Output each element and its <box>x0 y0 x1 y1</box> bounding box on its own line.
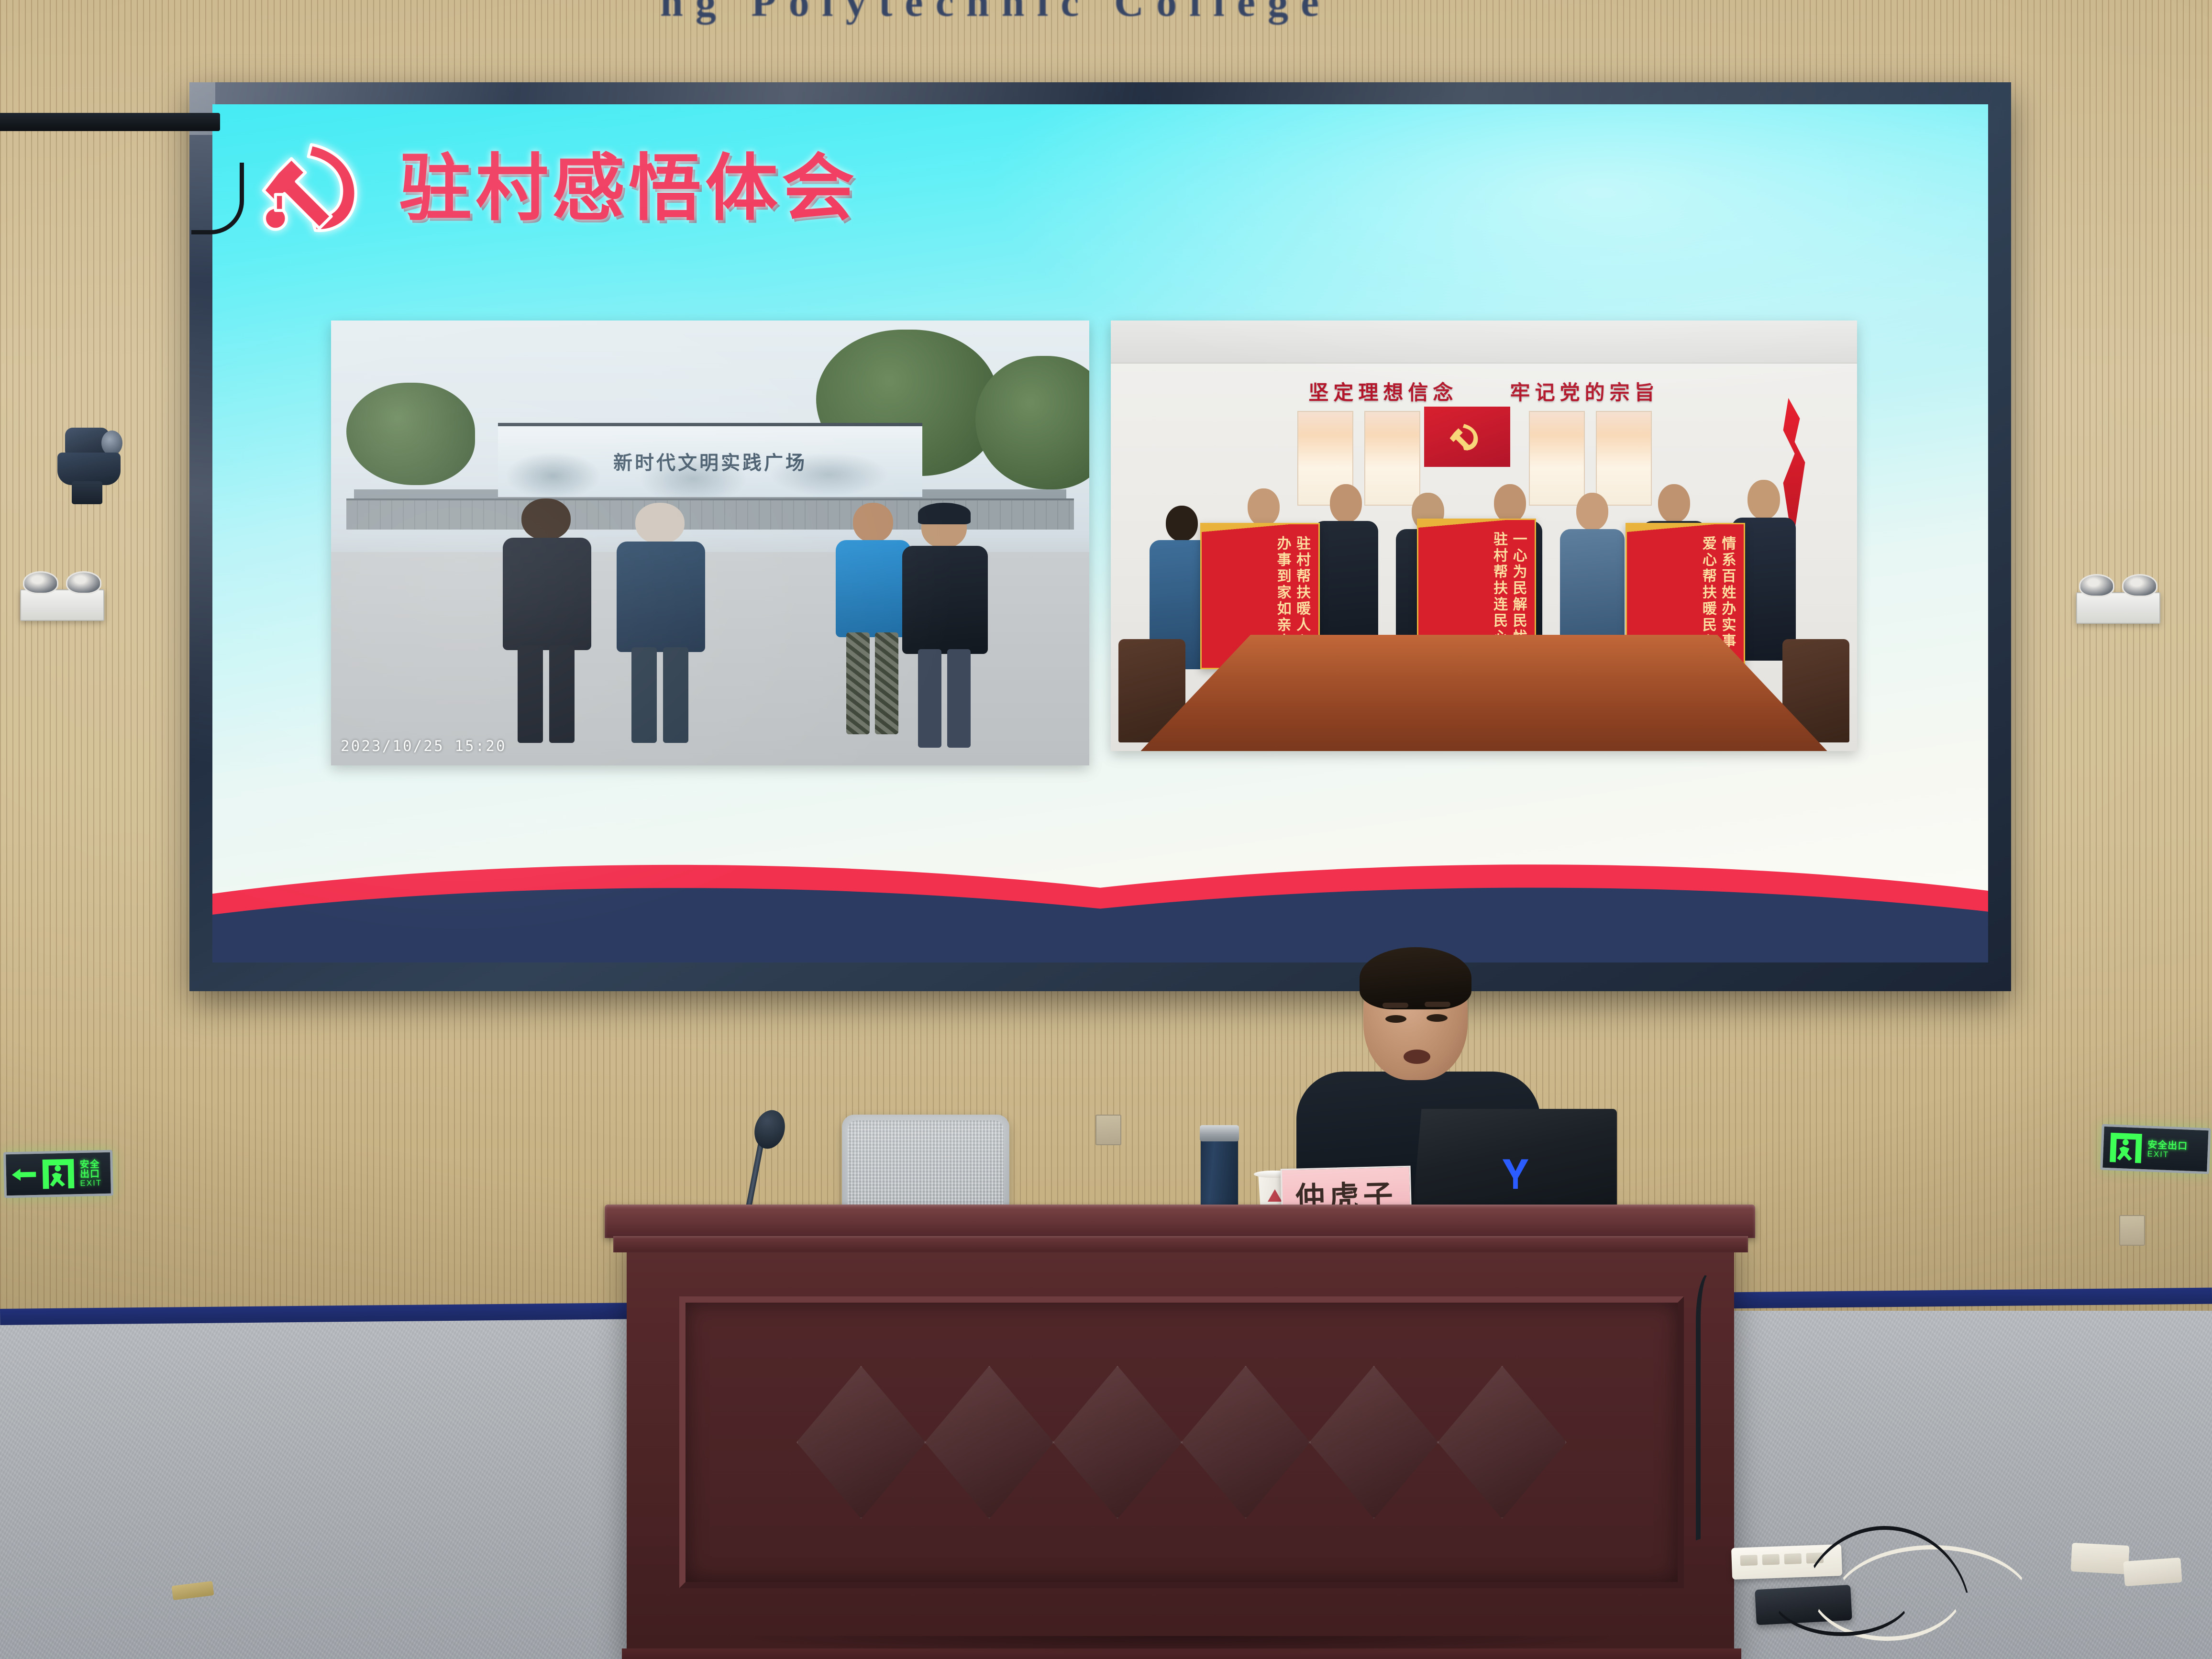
party-room-slogans: 坚定理想信念 牢记党的宗旨 <box>1111 376 1857 406</box>
exit-chinese-label: 安全出口 <box>79 1159 106 1179</box>
wall-plate-left <box>1095 1115 1121 1145</box>
floor-adapter-block <box>2123 1558 2182 1586</box>
conference-hall-scene: ng Polytechnic College 驻村感悟体会 <box>0 0 2212 1659</box>
photo-timestamp: 2023/10/25 15:20 <box>341 738 507 755</box>
floor-adapter-block <box>2071 1543 2130 1574</box>
village-handshake-photo: 新时代文明实践广场 <box>331 321 1089 765</box>
party-emblem-icon <box>1447 418 1484 456</box>
exit-sign-label: 安全出口 EXIT <box>79 1159 106 1187</box>
mural-text: 新时代文明实践广场 <box>498 447 923 475</box>
emergency-light-left <box>20 589 104 621</box>
podium-front-panel <box>679 1296 1684 1588</box>
legion-y-logo-icon <box>1497 1156 1534 1191</box>
photo-person <box>611 503 710 743</box>
podium-moulding <box>613 1236 1748 1252</box>
running-man-icon <box>40 1157 76 1191</box>
emergency-light-right <box>2076 592 2160 624</box>
podium-top-rail <box>605 1205 1755 1238</box>
exit-sign-left: 安全出口 EXIT <box>3 1150 113 1198</box>
slide-footer-wave <box>212 843 1988 962</box>
photo-person <box>498 498 597 743</box>
venue-banner-text: ng Polytechnic College <box>660 0 1665 16</box>
led-display-screen[interactable]: 驻村感悟体会 新时代文明实践广场 <box>189 82 2011 991</box>
exit-sign-right: 安全出口 EXIT <box>2100 1124 2211 1174</box>
presentation-slide: 驻村感悟体会 新时代文明实践广场 <box>212 104 1988 962</box>
wall-plate-right <box>2119 1215 2145 1246</box>
cpc-hammer-sickle-emblem <box>254 138 373 239</box>
conference-table <box>1140 635 1827 751</box>
arrow-left-icon <box>11 1166 37 1183</box>
speaker-podium <box>627 1229 1734 1659</box>
slogan-left: 坚定理想信念 <box>1308 376 1458 406</box>
exit-sign-label: 安全出口 EXIT <box>2147 1140 2188 1160</box>
exit-english-label: EXIT <box>2147 1150 2188 1160</box>
wall-mounted-camera <box>49 425 125 506</box>
podium-diamond-motif <box>686 1303 1678 1582</box>
exit-english-label: EXIT <box>80 1179 106 1187</box>
photo-person <box>900 508 991 748</box>
podium-floor-shadow <box>617 1636 1746 1659</box>
desk-power-cable <box>1696 1272 1729 1540</box>
village-mural: 新时代文明实践广场 <box>498 423 923 498</box>
slogan-right: 牢记党的宗旨 <box>1510 376 1659 406</box>
banner-presentation-photo: 坚定理想信念 牢记党的宗旨 <box>1111 321 1857 751</box>
running-man-icon <box>2108 1130 2145 1165</box>
photo-person <box>1312 484 1379 661</box>
banner-text: 一心为民解民忧 驻村帮扶连民心 <box>1425 531 1527 652</box>
thermos-cap <box>1200 1125 1239 1141</box>
laptop-base <box>0 113 220 131</box>
slide-title: 驻村感悟体会 <box>399 152 858 225</box>
slide-header: 驻村感悟体会 <box>254 138 858 239</box>
